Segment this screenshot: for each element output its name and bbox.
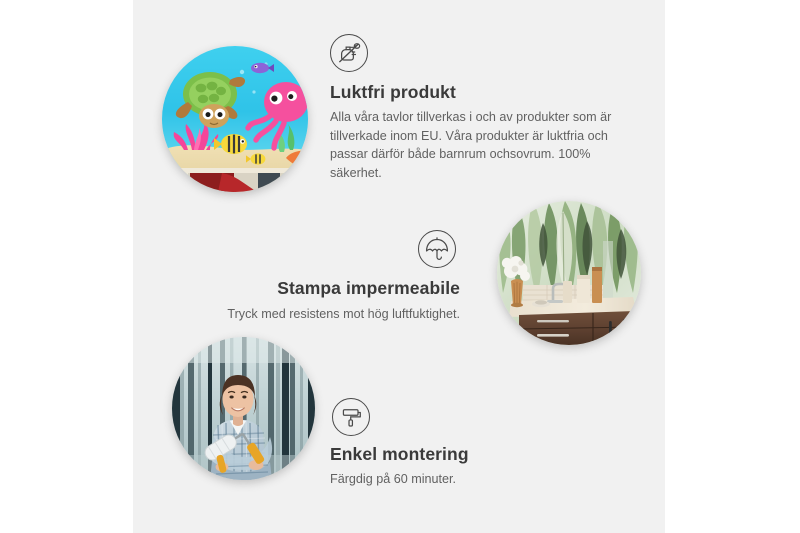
feature-title: Luktfri produkt [330,82,456,103]
feature-title: Stampa impermeabile [277,278,460,299]
promo-feature-panel: Luktfri produkt Alla våra tavlor tillver… [0,0,800,533]
umbrella-icon [418,230,456,268]
feature-description: Färgdig på 60 minuter. [330,470,456,489]
bathroom-tropical-wallpaper-photo [497,201,641,345]
feature-description: Tryck med resistens mot hög luftfuktighe… [227,305,460,324]
no-odor-spray-bottle-icon [330,34,368,72]
woman-paint-roller-forest-photo [172,337,315,480]
underwater-cartoon-mural-photo [162,46,308,192]
paint-roller-icon [332,398,370,436]
feature-description: Alla våra tavlor tillverkas i och av pro… [330,108,626,182]
feature-title: Enkel montering [330,444,469,465]
